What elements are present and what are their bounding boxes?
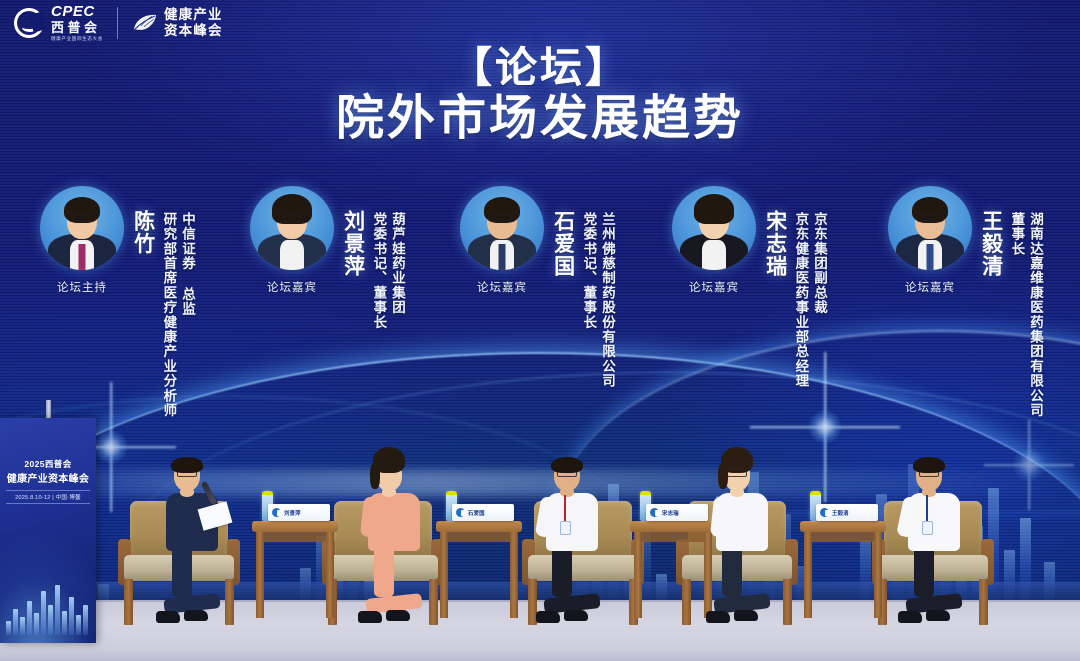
panelist-title-line: 研究部首席医疗健康产业分析师 xyxy=(161,212,177,418)
panelist-portrait-block: 论坛嘉宾 xyxy=(246,186,338,295)
panelist-name: 宋志瑞 xyxy=(763,210,786,278)
panelist-portrait-block: 论坛嘉宾 xyxy=(884,186,976,295)
seated-panelist xyxy=(150,448,270,623)
panelist-title-group: 京东集团副总裁京东健康医药事业部总经理 xyxy=(790,212,827,388)
cpec-ring-icon xyxy=(14,8,44,38)
panelist-title-line: 葫芦娃药业集团 xyxy=(389,212,405,330)
seated-panelist xyxy=(892,448,1012,623)
panelist-role-label: 论坛主持 xyxy=(57,279,107,295)
banner-bar xyxy=(41,591,46,635)
cpec-name-cn: 西普会 xyxy=(51,21,103,34)
banner-bar xyxy=(48,605,53,635)
panelist-title-line: 中信证券 总监 xyxy=(179,212,195,418)
seated-panelist xyxy=(530,448,650,623)
panelist-card: 论坛嘉宾刘景萍葫芦娃药业集团党委书记、董事长 xyxy=(246,186,405,330)
panelist-title-group: 中信证券 总监研究部首席医疗健康产业分析师 xyxy=(158,212,195,418)
banner-chart-decoration xyxy=(4,575,92,635)
panelist-role-label: 论坛嘉宾 xyxy=(477,279,527,295)
panelist-card-row: 论坛主持陈竹中信证券 总监研究部首席医疗健康产业分析师论坛嘉宾刘景萍葫芦娃药业集… xyxy=(0,186,1080,436)
banner-bar xyxy=(27,601,32,635)
name-plate-text: 王毅清 xyxy=(832,509,849,517)
panelist-title-line: 党委书记、董事长 xyxy=(581,212,597,388)
forum-title-block: 【论坛】 院外市场发展趋势 xyxy=(0,46,1080,146)
panelist-name: 王毅清 xyxy=(979,210,1002,278)
panel-seating-row: 刘景萍石爱国宋志瑞王毅清 xyxy=(0,430,1080,625)
rollup-banner: 2025西普会 健康产业资本峰会 2025.8.10-12 | 中国·博鳌 xyxy=(0,418,96,643)
panelist-role-label: 论坛嘉宾 xyxy=(905,279,955,295)
panelist-card: 论坛嘉宾宋志瑞京东集团副总裁京东健康医药事业部总经理 xyxy=(668,186,827,388)
panelist-name: 刘景萍 xyxy=(341,210,364,278)
banner-bar xyxy=(55,585,60,635)
panelist-card: 论坛嘉宾王毅清湖南达嘉维康医药集团有限公司董事长 xyxy=(884,186,1043,418)
name-plate-text: 宋志瑞 xyxy=(662,509,679,517)
panelist-title-line: 京东集团副总裁 xyxy=(811,212,827,388)
panelist-title-line: 湖南达嘉维康医药集团有限公司 xyxy=(1027,212,1043,418)
cpec-logo: CPEC 西普会 健康产业国际生态大会 xyxy=(14,4,103,41)
avatar xyxy=(888,186,972,270)
name-plate-text: 刘景萍 xyxy=(284,509,301,517)
banner-date: 2025.8.10-12 | 中国·博鳌 xyxy=(6,490,90,504)
panelist-card: 论坛主持陈竹中信证券 总监研究部首席医疗健康产业分析师 xyxy=(36,186,195,418)
panelist-portrait-block: 论坛嘉宾 xyxy=(456,186,548,295)
summit-line-2: 资本峰会 xyxy=(164,23,223,38)
event-logo-bar: CPEC 西普会 健康产业国际生态大会 健康产业 资本峰会 xyxy=(14,4,223,41)
summit-line-1: 健康产业 xyxy=(164,7,223,22)
panelist-title-line: 兰州佛慈制药股份有限公司 xyxy=(599,212,615,388)
panelist-title-group: 兰州佛慈制药股份有限公司党委书记、董事长 xyxy=(578,212,615,388)
seated-panelist xyxy=(352,448,472,623)
banner-line-1: 2025西普会 xyxy=(0,458,96,470)
avatar xyxy=(672,186,756,270)
panelist-name: 石爱国 xyxy=(551,210,574,278)
panelist-title-group: 湖南达嘉维康医药集团有限公司董事长 xyxy=(1006,212,1043,418)
panelist-title-line: 京东健康医药事业部总经理 xyxy=(793,212,809,388)
panelist-role-label: 论坛嘉宾 xyxy=(689,279,739,295)
panelist-portrait-block: 论坛主持 xyxy=(36,186,128,295)
cpec-mark-icon xyxy=(272,508,281,517)
banner-bar xyxy=(34,613,39,635)
leaf-icon xyxy=(132,13,158,33)
banner-bar xyxy=(69,597,74,635)
forum-title-main: 院外市场发展趋势 xyxy=(0,92,1080,146)
cpec-tagline: 健康产业国际生态大会 xyxy=(51,37,103,42)
avatar xyxy=(250,186,334,270)
banner-bar xyxy=(62,611,67,635)
summit-logo: 健康产业 资本峰会 xyxy=(132,7,223,37)
logo-divider xyxy=(117,7,118,39)
name-plate: 刘景萍 xyxy=(268,504,330,521)
banner-bar xyxy=(6,621,11,635)
seated-panelist xyxy=(700,448,820,623)
conference-stage-photo: CPEC 西普会 健康产业国际生态大会 健康产业 资本峰会 【论坛】 院外市场发… xyxy=(0,0,1080,661)
panelist-title-group: 葫芦娃药业集团党委书记、董事长 xyxy=(368,212,405,330)
banner-bar xyxy=(20,617,25,635)
banner-bar xyxy=(13,609,18,635)
cpec-mark-icon xyxy=(820,508,829,517)
cpec-wordmark: CPEC xyxy=(51,4,103,19)
cpec-mark-icon xyxy=(650,508,659,517)
name-plate: 宋志瑞 xyxy=(646,504,708,521)
panelist-title-line: 董事长 xyxy=(1009,212,1025,418)
panelist-portrait-block: 论坛嘉宾 xyxy=(668,186,760,295)
name-plate: 王毅清 xyxy=(816,504,878,521)
panelist-title-line: 党委书记、董事长 xyxy=(371,212,387,330)
avatar xyxy=(460,186,544,270)
panelist-role-label: 论坛嘉宾 xyxy=(267,279,317,295)
banner-bar xyxy=(76,615,81,635)
banner-bar xyxy=(83,605,88,635)
panelist-name: 陈竹 xyxy=(131,210,154,255)
avatar xyxy=(40,186,124,270)
forum-title-bracket: 【论坛】 xyxy=(0,46,1080,90)
banner-line-2: 健康产业资本峰会 xyxy=(0,470,96,485)
panelist-card: 论坛嘉宾石爱国兰州佛慈制药股份有限公司党委书记、董事长 xyxy=(456,186,615,388)
